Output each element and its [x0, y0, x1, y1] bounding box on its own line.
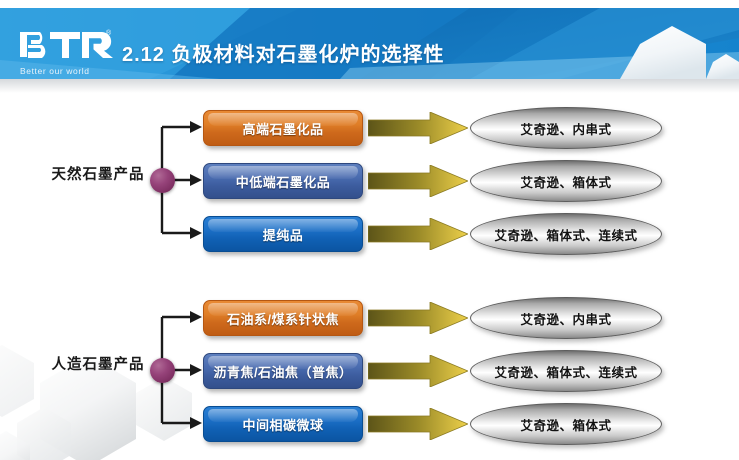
item-box[interactable]: 沥青焦/石油焦（普焦） — [203, 353, 363, 389]
arrow-right-icon — [368, 218, 468, 250]
item-box[interactable]: 中低端石墨化品 — [203, 163, 363, 199]
diagram-group-natural-graphite: 天然石墨产品 高端石墨化品 中低端石墨化品 提纯品 — [0, 100, 739, 260]
item-box-label: 中低端石墨化品 — [236, 172, 331, 191]
item-box[interactable]: 高端石墨化品 — [203, 110, 363, 146]
header-banner: ® Better our world 2.12 负极材料对石墨化炉的选择性 — [0, 8, 739, 79]
arrow-right-icon — [368, 165, 468, 197]
item-box[interactable]: 提纯品 — [203, 216, 363, 252]
registered-mark-icon: ® — [106, 30, 111, 37]
banner-shadow — [0, 79, 739, 93]
result-pill[interactable]: 艾奇逊、箱体式 — [470, 403, 662, 445]
btr-logo: ® Better our world — [18, 30, 122, 78]
item-box-label: 沥青焦/石油焦（普焦） — [213, 362, 352, 381]
group-label: 天然石墨产品 — [38, 163, 158, 184]
result-pill[interactable]: 艾奇逊、箱体式、连续式 — [470, 213, 662, 255]
result-pill-label: 艾奇逊、内串式 — [520, 309, 611, 328]
arrow-right-icon — [368, 408, 468, 440]
item-box[interactable]: 中间相碳微球 — [203, 406, 363, 442]
arrow-right-icon — [368, 112, 468, 144]
branch-node-dot — [150, 358, 175, 383]
result-pill[interactable]: 艾奇逊、内串式 — [470, 107, 662, 149]
result-pill[interactable]: 艾奇逊、箱体式、连续式 — [470, 350, 662, 392]
result-pill-label: 艾奇逊、箱体式、连续式 — [494, 362, 637, 381]
item-box-label: 高端石墨化品 — [242, 119, 323, 138]
arrow-right-icon — [368, 302, 468, 334]
slide-canvas: ® Better our world 2.12 负极材料对石墨化炉的选择性 天然… — [0, 0, 739, 460]
result-pill-label: 艾奇逊、内串式 — [520, 119, 611, 138]
result-pill[interactable]: 艾奇逊、箱体式 — [470, 160, 662, 202]
branch-node-dot — [150, 168, 175, 193]
arrow-right-icon — [368, 355, 468, 387]
item-box[interactable]: 石油系/煤系针状焦 — [203, 300, 363, 336]
result-pill-label: 艾奇逊、箱体式 — [520, 172, 611, 191]
item-box-label: 石油系/煤系针状焦 — [227, 309, 339, 328]
item-box-label: 提纯品 — [263, 225, 304, 244]
page-title: 2.12 负极材料对石墨化炉的选择性 — [122, 38, 444, 67]
item-box-label: 中间相碳微球 — [242, 415, 323, 434]
result-pill-label: 艾奇逊、箱体式 — [520, 415, 611, 434]
result-pill[interactable]: 艾奇逊、内串式 — [470, 297, 662, 339]
logo-tagline: Better our world — [20, 66, 90, 76]
group-label: 人造石墨产品 — [38, 353, 158, 374]
result-pill-label: 艾奇逊、箱体式、连续式 — [494, 225, 637, 244]
diagram-group-artificial-graphite: 人造石墨产品 石油系/煤系针状焦 沥青焦/石油焦（普焦） 中间相碳微球 — [0, 290, 739, 450]
